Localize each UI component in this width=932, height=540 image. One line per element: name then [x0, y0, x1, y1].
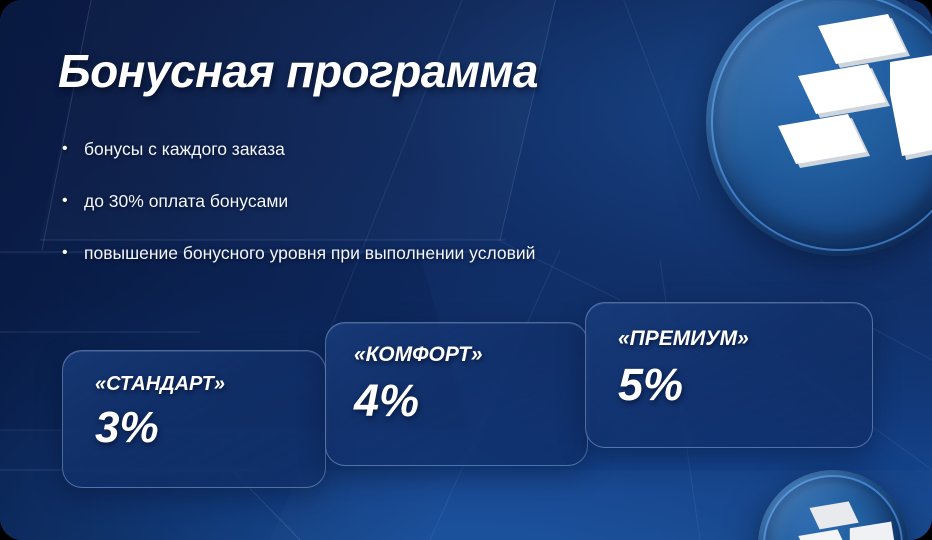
tier-card-comfort: «КОМФОРТ» 4%: [325, 322, 588, 466]
bullet-dot-icon: •: [62, 242, 84, 264]
list-item: • повышение бонусного уровня при выполне…: [62, 242, 762, 264]
tier-card-standard: «СТАНДАРТ» 3%: [62, 350, 326, 488]
tier-card-premium: «ПРЕМИУМ» 5%: [585, 302, 873, 448]
list-item: • бонусы с каждого заказа: [62, 138, 762, 160]
tier-name: «КОМФОРТ»: [354, 343, 483, 367]
bullet-dot-icon: •: [62, 138, 84, 160]
bullet-dot-icon: •: [62, 190, 84, 212]
tier-percent: 5%: [618, 359, 683, 411]
page-title: Бонусная программа: [58, 48, 538, 94]
benefit-text: повышение бонусного уровня при выполнени…: [84, 242, 535, 264]
tier-percent: 4%: [354, 375, 419, 427]
list-item: • до 30% оплата бонусами: [62, 190, 762, 212]
tier-name: «ПРЕМИУМ»: [618, 327, 749, 351]
benefit-text: бонусы с каждого заказа: [84, 138, 285, 160]
benefits-list: • бонусы с каждого заказа • до 30% оплат…: [62, 138, 762, 294]
brand-coin-logo-secondary: [758, 470, 908, 540]
tier-name: «СТАНДАРТ»: [95, 373, 225, 396]
tier-percent: 3%: [95, 403, 159, 453]
benefit-text: до 30% оплата бонусами: [84, 190, 288, 212]
bonus-program-banner: Бонусная программа • бонусы с каждого за…: [0, 0, 932, 540]
